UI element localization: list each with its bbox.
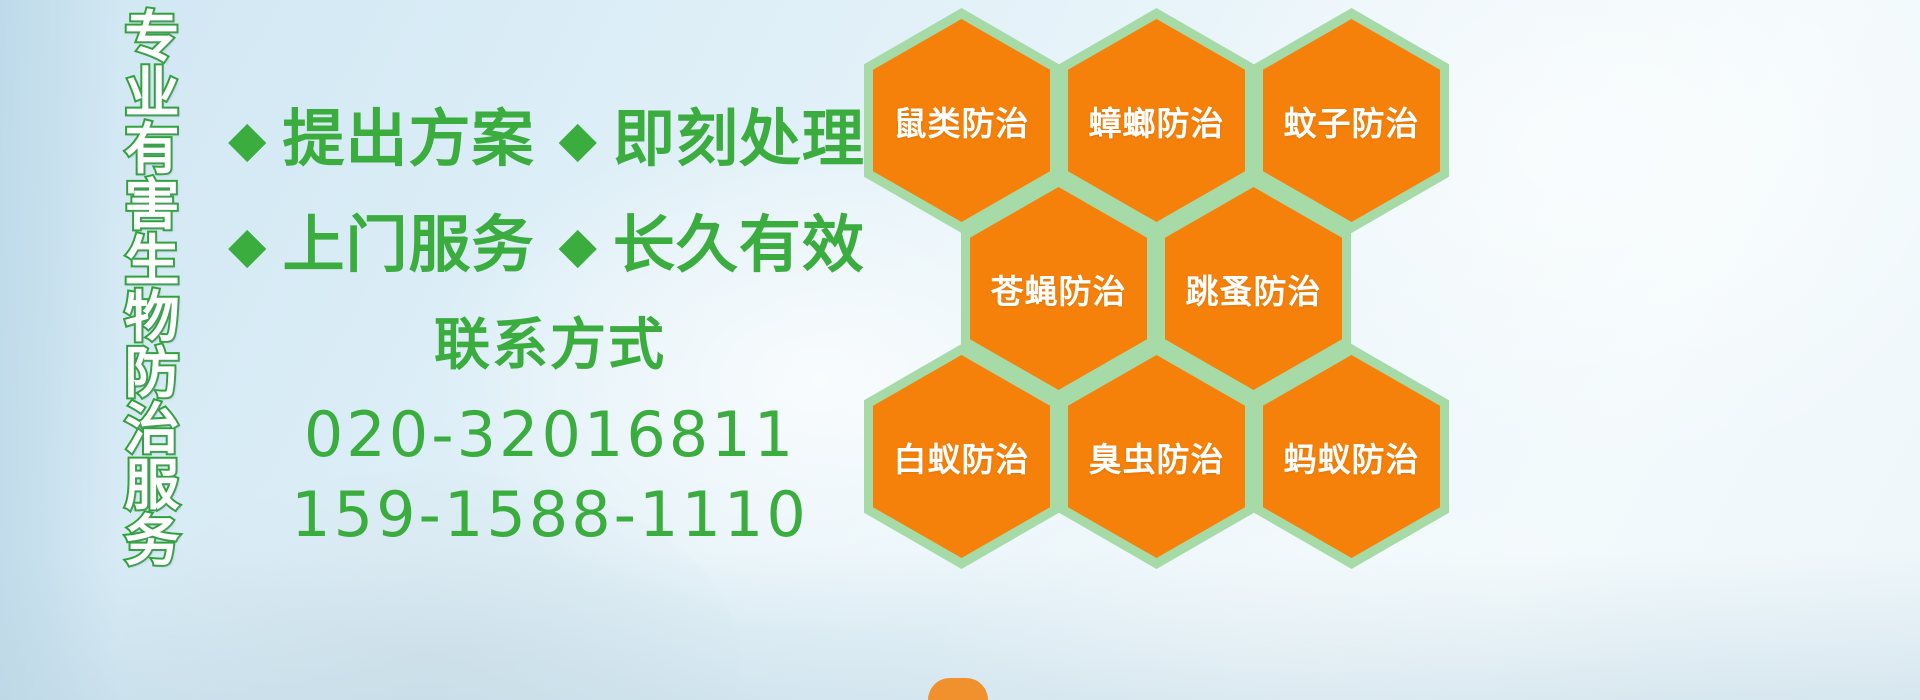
phone-number-landline[interactable]: 020-32016811 — [240, 395, 860, 474]
feature-label: 上门服务 — [282, 214, 534, 276]
contact-block: 联系方式 020-32016811 159-1588-1110 — [240, 312, 860, 554]
vertical-headline-char: 务 — [124, 514, 179, 569]
vertical-headline: 专 业 有 害 生 物 防 治 服 务 — [100, 10, 204, 570]
contact-heading: 联系方式 — [240, 312, 860, 379]
diamond-bullet-icon: ◆ — [558, 114, 596, 164]
service-hex-label: 苍蝇防治 — [991, 265, 1127, 313]
feature-row: ◆ 提出方案 ◆ 即刻处理 — [228, 86, 868, 192]
bottom-orange-accent — [928, 678, 988, 700]
service-hex-label: 蟑螂防治 — [1089, 97, 1225, 145]
vertical-headline-char: 生 — [124, 234, 179, 289]
vertical-headline-char: 害 — [124, 178, 179, 233]
diamond-bullet-icon: ◆ — [228, 220, 266, 270]
feature-row: ◆ 上门服务 ◆ 长久有效 — [228, 192, 868, 298]
service-hex-ant[interactable]: 蚂蚁防治 — [1254, 344, 1449, 569]
service-hex-label: 臭虫防治 — [1089, 433, 1225, 481]
service-hex-label: 鼠类防治 — [894, 97, 1030, 145]
pest-control-banner: 专 业 有 害 生 物 防 治 服 务 ◆ 提出方案 ◆ 即刻处理 ◆ 上门服务… — [0, 0, 1920, 700]
vertical-headline-char: 物 — [124, 290, 179, 345]
vertical-headline-char: 业 — [124, 66, 179, 121]
phone-number-mobile[interactable]: 159-1588-1110 — [240, 475, 860, 554]
service-hexagon-grid: 鼠类防治 蟑螂防治 蚊子防治 苍蝇防治 跳蚤防治 白蚁防治 — [862, 0, 1462, 570]
service-hex-label: 蚂蚁防治 — [1284, 433, 1420, 481]
service-hex-termite[interactable]: 白蚁防治 — [864, 344, 1059, 569]
vertical-headline-char: 防 — [124, 346, 179, 401]
feature-list: ◆ 提出方案 ◆ 即刻处理 ◆ 上门服务 ◆ 长久有效 — [228, 86, 868, 298]
vertical-headline-char: 治 — [124, 402, 179, 457]
feature-label: 提出方案 — [282, 108, 534, 170]
service-hex-bedbug[interactable]: 臭虫防治 — [1059, 344, 1254, 569]
vertical-headline-char: 有 — [124, 122, 179, 177]
diamond-bullet-icon: ◆ — [558, 220, 596, 270]
diamond-bullet-icon: ◆ — [228, 114, 266, 164]
feature-label: 即刻处理 — [613, 108, 865, 170]
service-hex-label: 白蚁防治 — [894, 433, 1030, 481]
vertical-headline-char: 服 — [124, 458, 179, 513]
service-hex-label: 跳蚤防治 — [1186, 265, 1322, 313]
feature-label: 长久有效 — [613, 214, 865, 276]
service-hex-label: 蚊子防治 — [1284, 97, 1420, 145]
vertical-headline-char: 专 — [124, 10, 179, 65]
